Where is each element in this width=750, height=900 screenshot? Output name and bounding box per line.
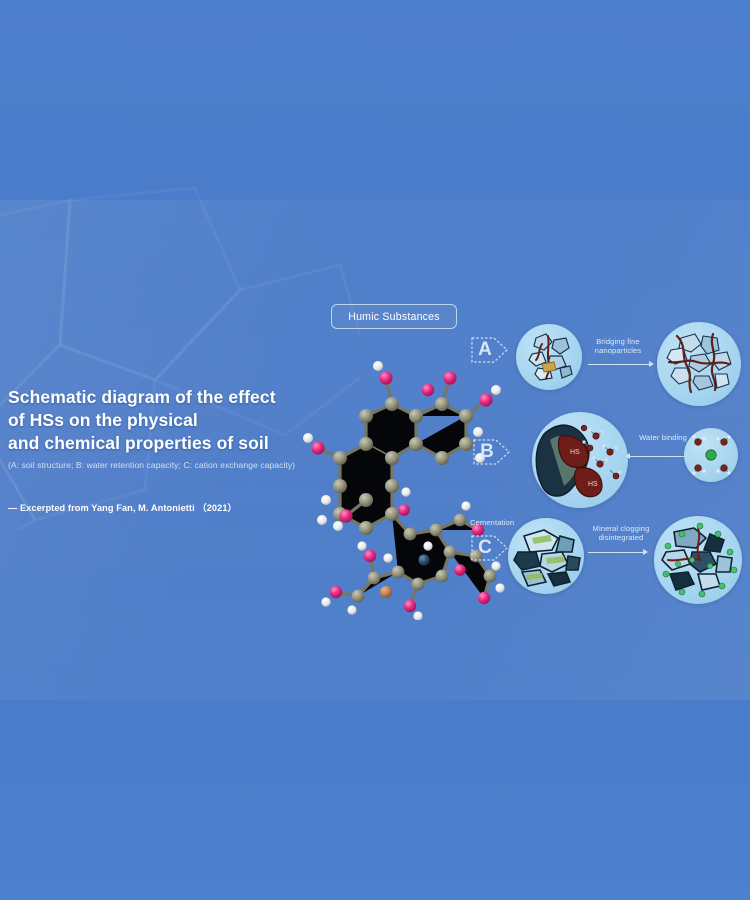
panel-c-badge: C: [470, 528, 510, 568]
panel-c-letter: C: [470, 528, 500, 568]
panel-b-arrow-line: [630, 456, 684, 457]
panel-a-arrow-line: [588, 364, 650, 365]
svg-text:HS: HS: [588, 481, 598, 488]
page-title: Schematic diagram of the effect of HSs o…: [8, 386, 338, 454]
panel-b-right-circle: [684, 428, 738, 482]
panel-a-badge: A: [470, 330, 510, 370]
svg-text:HS: HS: [570, 449, 580, 456]
panel-c-arrow-head: [643, 549, 648, 555]
panel-b-letter: B: [472, 432, 502, 472]
panel-a-letter: A: [470, 330, 500, 370]
panel-c-arrow-line: [588, 552, 644, 553]
title-line-2: of HSs on the physical: [8, 409, 338, 432]
text-block: Schematic diagram of the effect of HSs o…: [8, 386, 338, 514]
panel-c-process-label: Mineral clogging disintegrated: [578, 524, 664, 543]
panel-c-left-circle: [508, 518, 584, 594]
subtitle-legend: (A: soil structure; B: water retention c…: [8, 460, 338, 472]
panel-a-right-circle: [657, 322, 741, 406]
source-credit: — Excerpted from Yang Fan, M. Antonietti…: [8, 500, 338, 514]
panel-c-right-circle: [654, 516, 742, 604]
slide-canvas: Schematic diagram of the effect of HSs o…: [0, 0, 750, 900]
panel-b-left-circle: HS HS: [532, 412, 628, 508]
panel-a-process-label: Bridging fine nanoparticles: [578, 337, 658, 356]
panel-a-arrow-head: [649, 361, 654, 367]
title-line-3: and chemical properties of soil: [8, 432, 338, 455]
panel-b-arrow-head: [625, 453, 630, 459]
panel-b-badge: B: [472, 432, 512, 472]
title-line-1: Schematic diagram of the effect: [8, 386, 338, 409]
panel-a-left-circle: [516, 324, 582, 390]
